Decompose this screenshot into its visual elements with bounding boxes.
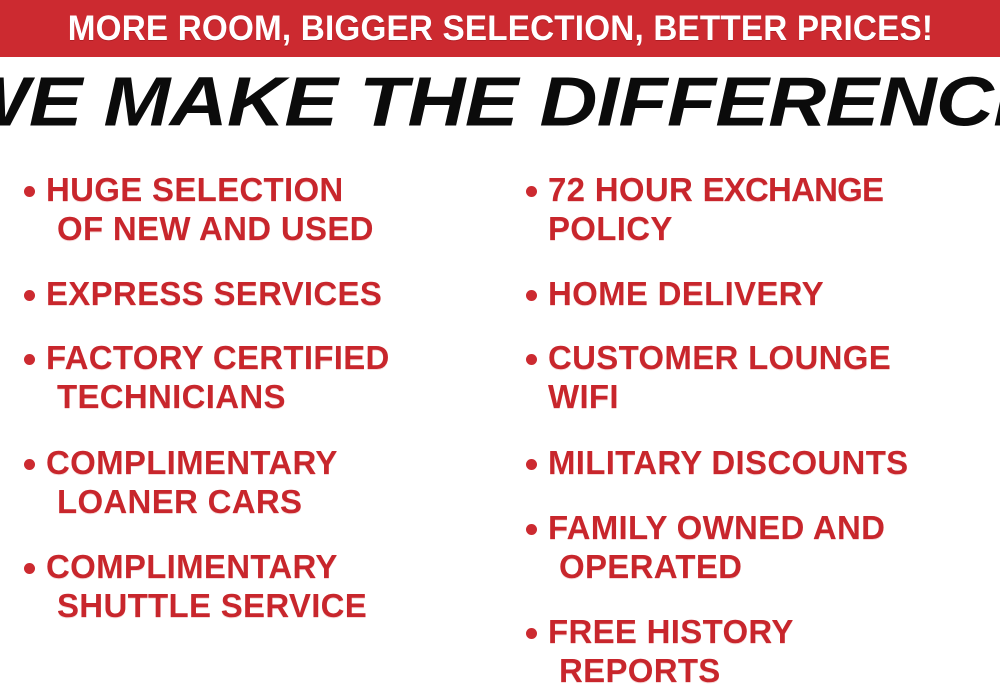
list-item-line1: EXPRESS SERVICES: [46, 275, 382, 312]
promo-poster: MORE ROOM, BIGGER SELECTION, BETTER PRIC…: [0, 0, 1000, 694]
list-item-line2: REPORTS: [548, 651, 1000, 690]
list-item-line2: POLICY: [548, 209, 1000, 248]
bullet-dot-icon: [526, 290, 537, 301]
list-item-line1: FAMILY OWNED AND: [548, 509, 885, 546]
list-item: COMPLIMENTARY SHUTTLE SERVICE: [14, 547, 504, 625]
top-banner: MORE ROOM, BIGGER SELECTION, BETTER PRIC…: [0, 0, 1000, 57]
bullet-dot-icon: [526, 459, 537, 470]
list-item-line1: HOME DELIVERY: [548, 275, 824, 312]
list-item-line1: 72 HOUR EXCHANGE: [548, 171, 883, 208]
list-item-line2: OF NEW AND USED: [46, 209, 504, 248]
list-item: FACTORY CERTIFIED TECHNICIANS: [14, 338, 504, 416]
list-item-line1: MILITARY DISCOUNTS: [548, 444, 908, 481]
list-item-text: COMPLIMENTARY LOANER CARS: [46, 443, 504, 521]
list-item-line2: LOANER CARS: [46, 482, 504, 521]
bullet-dot-icon: [24, 459, 35, 470]
list-item-text: FACTORY CERTIFIED TECHNICIANS: [46, 338, 504, 416]
list-item-text: FREE HISTORY REPORTS: [548, 612, 1000, 690]
list-item-line2: SHUTTLE SERVICE: [46, 586, 504, 625]
list-item-text: CUSTOMER LOUNGE WIFI: [548, 338, 1000, 416]
bullet-dot-icon: [24, 354, 35, 365]
list-item: COMPLIMENTARY LOANER CARS: [14, 443, 504, 521]
list-item: HUGE SELECTION OF NEW AND USED: [14, 170, 504, 248]
bullet-dot-icon: [24, 290, 35, 301]
list-item: 72 HOUR EXCHANGE POLICY: [516, 170, 1000, 248]
list-item-text: FAMILY OWNED AND OPERATED: [548, 508, 1000, 586]
list-item: FREE HISTORY REPORTS: [516, 612, 1000, 690]
list-item-text: 72 HOUR EXCHANGE POLICY: [548, 170, 1000, 248]
list-item-text: HUGE SELECTION OF NEW AND USED: [46, 170, 504, 248]
list-item-line2: OPERATED: [548, 547, 1000, 586]
list-item-line1: COMPLIMENTARY: [46, 548, 338, 585]
bullet-dot-icon: [526, 628, 537, 639]
benefits-column-left: HUGE SELECTION OF NEW AND USED EXPRESS S…: [14, 160, 504, 694]
list-item-line1: FREE HISTORY: [548, 613, 794, 650]
list-item-line1-part2: EXCHANGE: [703, 171, 884, 208]
list-item-line1: HUGE SELECTION: [46, 171, 344, 208]
list-item-line2: TECHNICIANS: [46, 377, 504, 416]
list-item-text: HOME DELIVERY: [548, 274, 1000, 313]
list-item: FAMILY OWNED AND OPERATED: [516, 508, 1000, 586]
benefits-column-right: 72 HOUR EXCHANGE POLICY HOME DELIVERY CU…: [516, 160, 1000, 694]
main-headline: WE MAKE THE DIFFERENCE: [0, 68, 1000, 136]
list-item-line2: WIFI: [548, 377, 1000, 416]
bullet-dot-icon: [526, 524, 537, 535]
list-item-line1: FACTORY CERTIFIED: [46, 339, 390, 376]
bullet-dot-icon: [526, 186, 537, 197]
main-headline-text: WE MAKE THE DIFFERENCE: [0, 67, 1000, 136]
bullet-dot-icon: [24, 563, 35, 574]
list-item-text: MILITARY DISCOUNTS: [548, 443, 1000, 482]
list-item-line1: CUSTOMER LOUNGE: [548, 339, 891, 376]
bullet-dot-icon: [24, 186, 35, 197]
list-item: EXPRESS SERVICES: [14, 274, 504, 313]
list-item-text: COMPLIMENTARY SHUTTLE SERVICE: [46, 547, 504, 625]
banner-headline-text: MORE ROOM, BIGGER SELECTION, BETTER PRIC…: [67, 11, 932, 46]
list-item-line1-part1: 72 HOUR: [548, 171, 703, 208]
list-item: CUSTOMER LOUNGE WIFI: [516, 338, 1000, 416]
list-item: MILITARY DISCOUNTS: [516, 443, 1000, 482]
bullet-dot-icon: [526, 354, 537, 365]
list-item-text: EXPRESS SERVICES: [46, 274, 504, 313]
list-item: HOME DELIVERY: [516, 274, 1000, 313]
benefits-columns: HUGE SELECTION OF NEW AND USED EXPRESS S…: [0, 160, 1000, 694]
list-item-line1: COMPLIMENTARY: [46, 444, 338, 481]
